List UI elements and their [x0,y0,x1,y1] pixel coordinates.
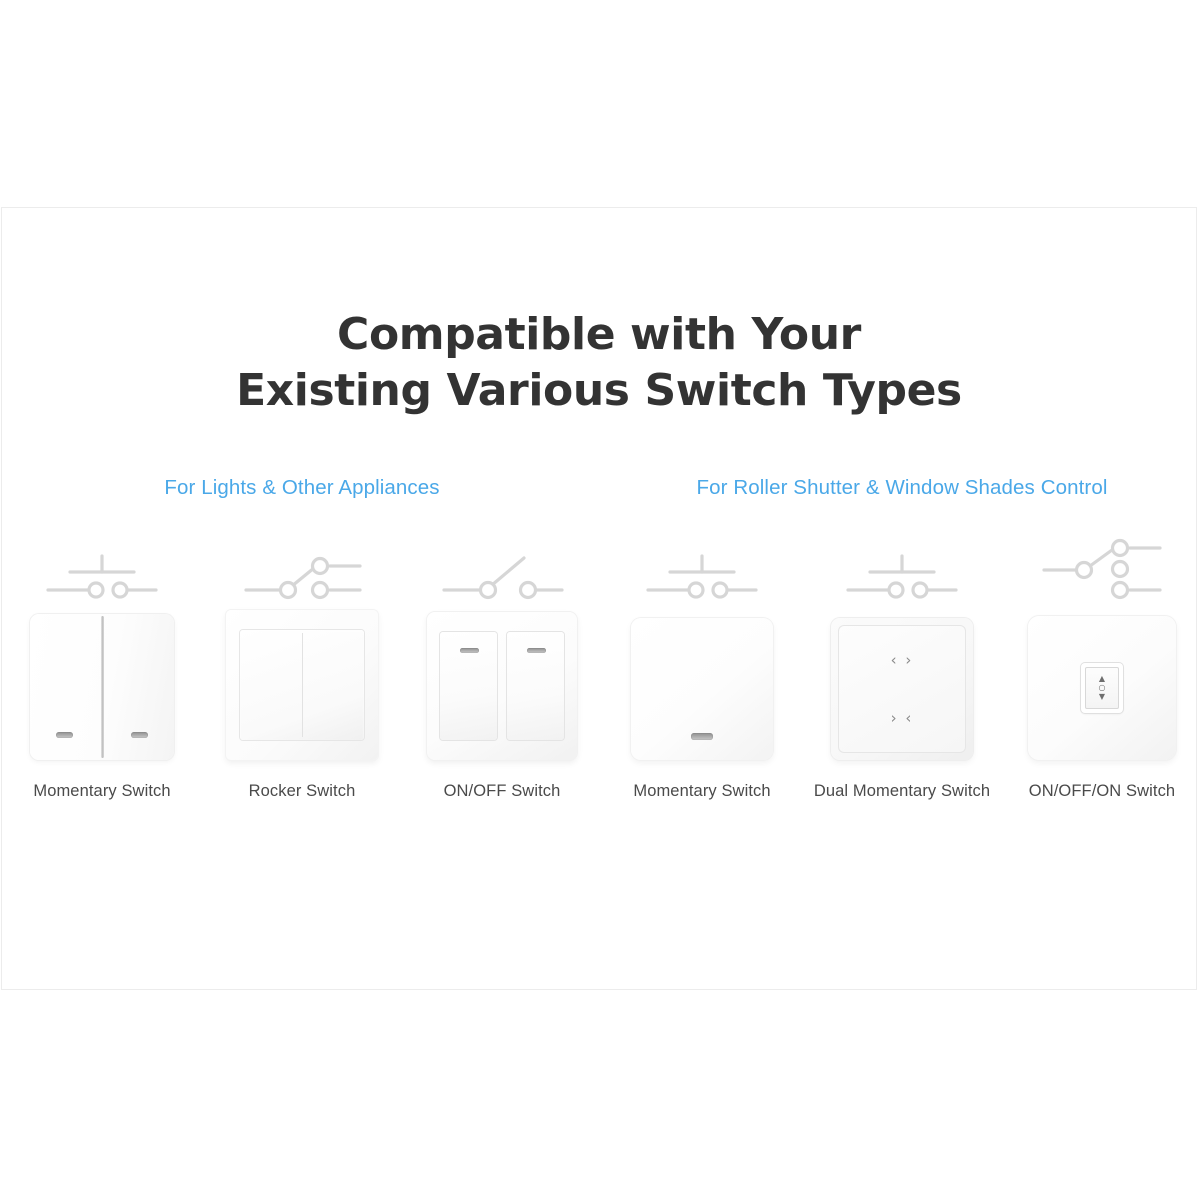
arrow-up-icon: ▲ [1099,675,1105,683]
switch-divider [101,616,104,758]
rocker-divider [302,633,303,737]
group-title-roller: For Roller Shutter & Window Shades Contr… [602,476,1200,500]
group-title-lights: For Lights & Other Appliances [2,476,602,500]
page-root: Compatible with Your Existing Various Sw… [0,0,1200,1200]
push-button-symbol [640,530,764,600]
momentary-single-switch [631,600,773,760]
switch-list-roller: Momentary Switch [602,530,1200,801]
switch-item-onoff[interactable]: ON/OFF Switch [402,530,602,801]
switch-label: Momentary Switch [33,782,170,801]
group-roller-shutter: For Roller Shutter & Window Shades Contr… [602,476,1200,801]
dual-momentary-switch: ‹ › › ‹ [831,600,973,760]
switch-label: Dual Momentary Switch [814,782,990,801]
switch-label: Momentary Switch [633,782,770,801]
shutter-open-icon: ‹ › [838,651,966,669]
changeover-switch-symbol [240,530,364,600]
led-indicator [691,733,713,740]
page-title: Compatible with Your Existing Various Sw… [2,307,1196,419]
switch-label: ON/OFF/ON Switch [1029,782,1175,801]
page-title-line-2: Existing Various Switch Types [2,363,1196,419]
switch-item-rocker[interactable]: Rocker Switch [202,530,402,801]
shutter-close-icon: › ‹ [838,709,966,727]
page-title-line-1: Compatible with Your [2,307,1196,363]
onoffon-switch: ▲ ○ ▼ [1028,600,1176,760]
switch-item-dual-momentary[interactable]: ‹ › › ‹ Dual Momentary Switch [802,530,1002,801]
switch-item-momentary-lights[interactable]: Momentary Switch [2,530,202,801]
group-lights-appliances: For Lights & Other Appliances [2,476,602,801]
stop-circle-icon: ○ [1099,684,1106,692]
three-position-switch-symbol [1040,530,1164,600]
open-blade-switch-symbol [440,530,564,600]
push-button-symbol [40,530,164,600]
switch-label: Rocker Switch [249,782,356,801]
onoff-2gang-switch [427,600,577,760]
switch-list-lights: Momentary Switch [2,530,602,801]
arrow-down-icon: ▼ [1099,693,1105,701]
rocker-face [240,630,364,740]
dual-button-face: ‹ › › ‹ [838,625,966,753]
switch-item-momentary-roller[interactable]: Momentary Switch [602,530,802,801]
switch-gang-right [507,632,564,740]
momentary-2gang-switch [30,600,174,760]
center-rocker: ▲ ○ ▼ [1081,663,1123,713]
rocker-2gang-switch [226,600,378,760]
switch-item-onoffon[interactable]: ▲ ○ ▼ ON/OFF/ON Switch [1002,530,1200,801]
led-indicator-right [527,648,546,653]
content-card: Compatible with Your Existing Various Sw… [1,207,1197,990]
led-indicator-left [460,648,479,653]
push-button-symbol [840,530,964,600]
switch-gang-left [440,632,497,740]
led-indicator-right [131,732,148,738]
switch-label: ON/OFF Switch [444,782,561,801]
led-indicator-left [56,732,73,738]
